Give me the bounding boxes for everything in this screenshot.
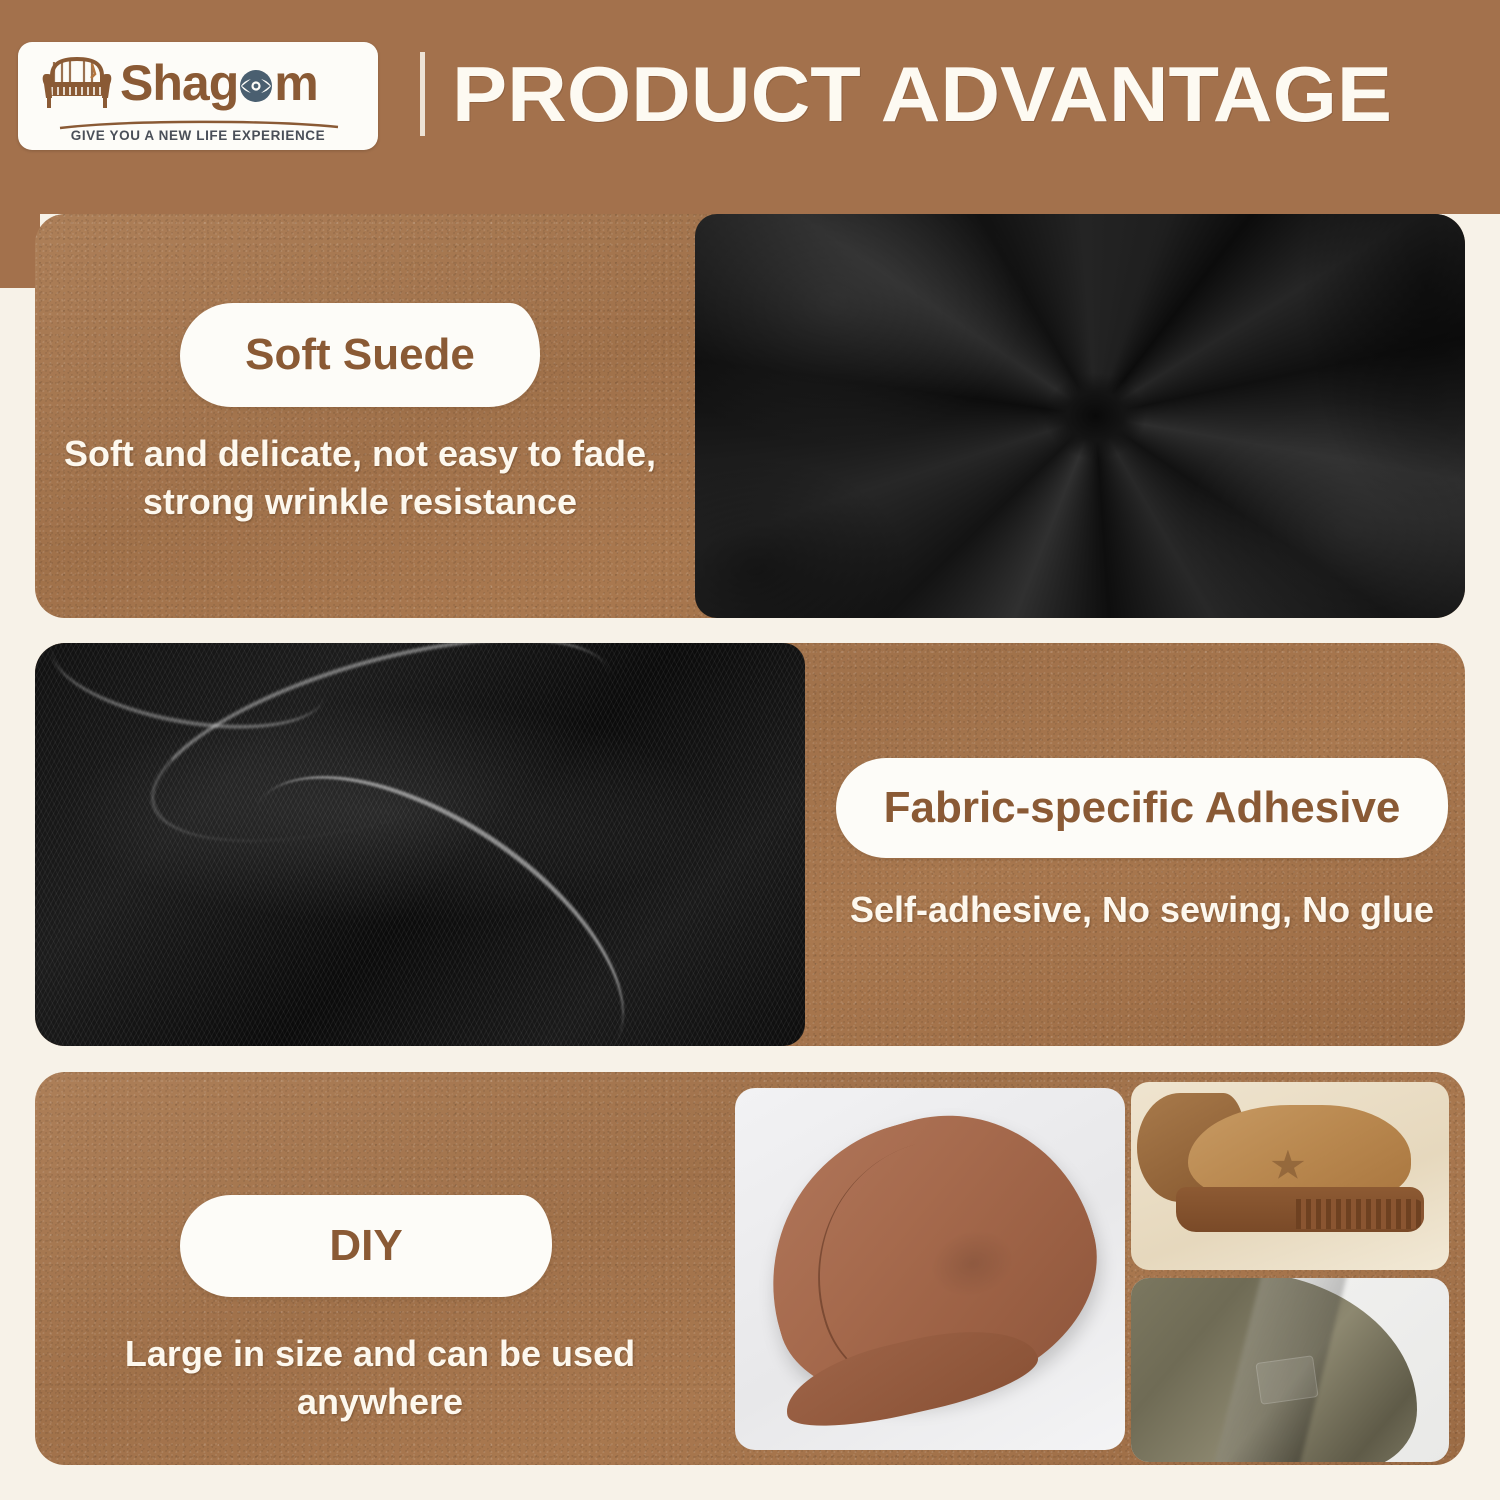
feature-label-diy: DIY xyxy=(180,1195,552,1297)
black-fleece-macro-photo xyxy=(35,643,805,1046)
brown-suede-cap-photo xyxy=(735,1088,1125,1450)
black-suede-cloth-photo xyxy=(695,214,1465,618)
page-title: PRODUCT ADVANTAGE xyxy=(452,40,1392,148)
cloth-fold-highlights xyxy=(695,214,1465,618)
logo-brand-tail-text: m xyxy=(274,55,317,111)
olive-suede-garment-photo xyxy=(1131,1278,1449,1462)
feature-card-soft-suede xyxy=(35,214,1465,618)
header-band-left-extension xyxy=(0,200,40,288)
logo-row: Shag m xyxy=(18,46,378,120)
header-divider xyxy=(420,52,425,136)
feature-label-soft-suede: Soft Suede xyxy=(180,303,540,407)
logo-brand-text: Shag xyxy=(120,55,238,111)
feature-description-soft-suede: Soft and delicate, not easy to fade, str… xyxy=(60,430,660,526)
feature-label-fabric-specific-adhesive: Fabric-specific Adhesive xyxy=(836,758,1448,858)
logo-tagline: GIVE YOU A NEW LIFE EXPERIENCE xyxy=(18,128,378,143)
garment-patch xyxy=(1256,1355,1319,1405)
slipper-tread xyxy=(1296,1199,1423,1229)
tan-suede-slipper-photo xyxy=(1131,1082,1449,1270)
feature-description-fabric-specific-adhesive: Self-adhesive, No sewing, No glue xyxy=(830,886,1454,934)
feature-description-diy: Large in size and can be used anywhere xyxy=(48,1330,712,1426)
sofa-icon xyxy=(40,54,114,112)
brand-logo: Shag m GIVE YOU A NEW LIFE EXPERIENCE xyxy=(18,42,378,150)
logo-wordmark: Shag m xyxy=(120,58,318,108)
eye-mark-icon xyxy=(239,69,273,103)
product-advantage-infographic: Shag m GIVE YOU A NEW LIFE EXPERIENCE PR… xyxy=(0,0,1500,1500)
